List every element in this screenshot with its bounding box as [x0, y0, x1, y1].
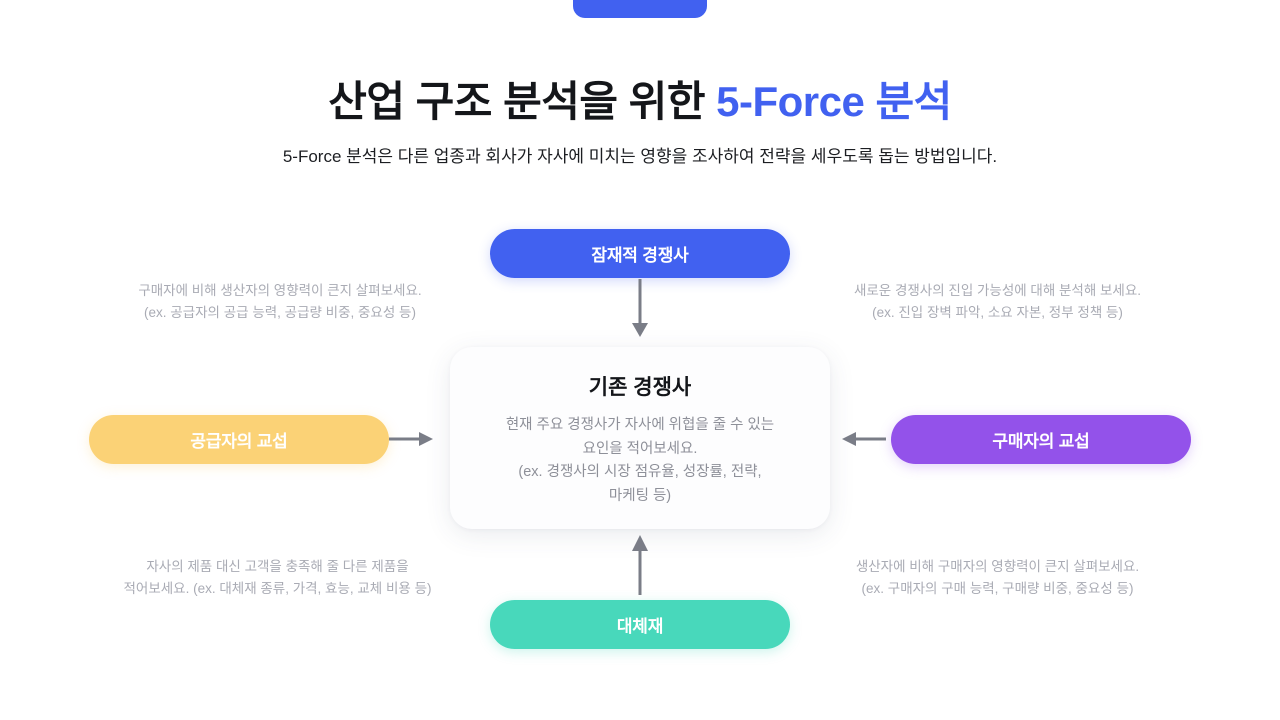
center-card-existing-competitors: 기존 경쟁사 현재 주요 경쟁사가 자사에 위협을 줄 수 있는 요인을 적어보…	[450, 347, 830, 529]
node-new-entrants-label: 잠재적 경쟁사	[591, 241, 688, 266]
arrow-up-icon	[626, 533, 654, 595]
node-buyers[interactable]: 구매자의 교섭	[891, 415, 1191, 464]
page-title: 산업 구조 분석을 위한 5-Force 분석	[0, 68, 1280, 129]
page-title-main: 산업 구조 분석을 위한	[328, 78, 716, 125]
slide-canvas: 산업 구조 분석을 위한 5-Force 분석 5-Force 분석은 다른 업…	[0, 0, 1280, 720]
node-suppliers[interactable]: 공급자의 교섭	[89, 415, 389, 464]
caption-suppliers: 구매자에 비해 생산자의 영향력이 큰지 살펴보세요. (ex. 공급자의 공급…	[60, 280, 500, 325]
node-substitutes-label: 대체재	[617, 612, 663, 637]
page-title-accent: 5-Force 분석	[716, 78, 952, 125]
arrow-right-icon	[389, 428, 435, 450]
arrow-left-icon	[840, 428, 886, 450]
center-card-description: 현재 주요 경쟁사가 자사에 위협을 줄 수 있는 요인을 적어보세요. (ex…	[474, 414, 806, 508]
node-substitutes[interactable]: 대체재	[490, 600, 790, 649]
caption-substitutes: 자사의 제품 대신 고객을 충족해 줄 다른 제품을 적어보세요. (ex. 대…	[55, 556, 500, 601]
center-card-title: 기존 경쟁사	[474, 375, 806, 400]
caption-new-entrants: 새로운 경쟁사의 진입 가능성에 대해 분석해 보세요. (ex. 진입 장벽 …	[775, 280, 1220, 325]
node-suppliers-label: 공급자의 교섭	[190, 427, 287, 452]
top-tab-decoration	[573, 0, 707, 18]
node-buyers-label: 구매자의 교섭	[992, 427, 1089, 452]
node-new-entrants[interactable]: 잠재적 경쟁사	[490, 229, 790, 278]
page-subtitle: 5-Force 분석은 다른 업종과 회사가 자사에 미치는 영향을 조사하여 …	[0, 142, 1280, 167]
arrow-down-icon	[626, 279, 654, 341]
caption-buyers: 생산자에 비해 구매자의 영향력이 큰지 살펴보세요. (ex. 구매자의 구매…	[775, 556, 1220, 601]
